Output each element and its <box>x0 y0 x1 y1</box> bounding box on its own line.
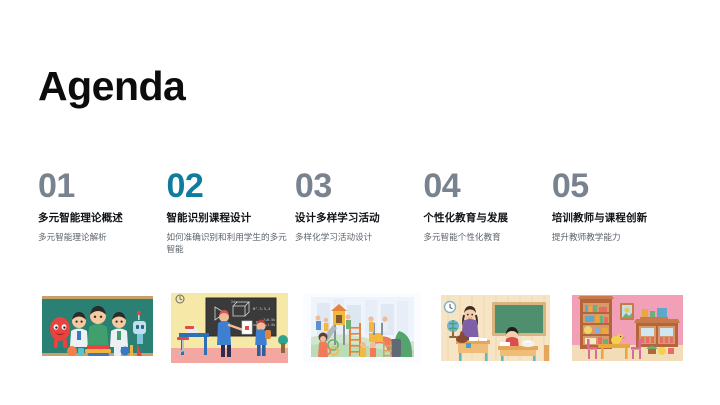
agenda-number-02: 02 <box>166 168 294 205</box>
agenda-subtitle-03: 多样化学习活动设计 <box>295 231 417 243</box>
agenda-subtitle-01: 多元智能理论解析 <box>38 231 160 243</box>
svg-text:24x: 24x <box>231 300 237 304</box>
agenda-heading-03: 设计多样学习活动 <box>295 212 423 225</box>
agenda-subtitle-05: 提升教师教学能力 <box>552 231 674 243</box>
svg-text:7+6-5k: 7+6-5k <box>263 318 275 322</box>
agenda-illustrations: 24x N²-3.5,4 7+6-5k b+1.5k <box>38 293 686 363</box>
agenda-item-01[interactable]: 01 多元智能理论概述 多元智能理论解析 <box>38 168 166 256</box>
agenda-item-05[interactable]: 05 培训教师与课程创新 提升教师教学能力 <box>552 168 686 256</box>
agenda-number-05: 05 <box>552 168 686 205</box>
children-playground-illustration <box>303 293 421 363</box>
agenda-item-04[interactable]: 04 个性化教育与发展 多元智能个性化教育 <box>423 168 551 256</box>
agenda-columns: 01 多元智能理论概述 多元智能理论解析 02 智能识别课程设计 如何准确识别和… <box>38 168 686 256</box>
children-at-chalkboard-illustration <box>38 293 156 363</box>
agenda-heading-02: 智能识别课程设计 <box>166 212 294 225</box>
agenda-item-03[interactable]: 03 设计多样学习活动 多样化学习活动设计 <box>295 168 423 256</box>
agenda-number-01: 01 <box>38 168 166 205</box>
agenda-item-02[interactable]: 02 智能识别课程设计 如何准确识别和利用学生的多元智能 <box>166 168 294 256</box>
svg-text:N²-3.5,4: N²-3.5,4 <box>253 307 270 311</box>
agenda-number-03: 03 <box>295 168 423 205</box>
agenda-subtitle-04: 多元智能个性化教育 <box>423 231 545 243</box>
agenda-number-04: 04 <box>423 168 551 205</box>
agenda-subtitle-02: 如何准确识别和利用学生的多元智能 <box>166 231 288 256</box>
agenda-heading-01: 多元智能理论概述 <box>38 212 166 225</box>
agenda-slide: Agenda 01 多元智能理论概述 多元智能理论解析 02 智能识别课程设计 … <box>0 0 720 405</box>
teacher-teaching-at-blackboard-illustration: 24x N²-3.5,4 7+6-5k b+1.5k <box>171 293 289 363</box>
classroom-teacher-and-student-illustration <box>436 293 554 363</box>
page-title: Agenda <box>38 66 185 107</box>
agenda-heading-05: 培训教师与课程创新 <box>552 212 686 225</box>
kindergarten-room-with-bookshelf-illustration <box>568 293 686 363</box>
agenda-heading-04: 个性化教育与发展 <box>423 212 551 225</box>
